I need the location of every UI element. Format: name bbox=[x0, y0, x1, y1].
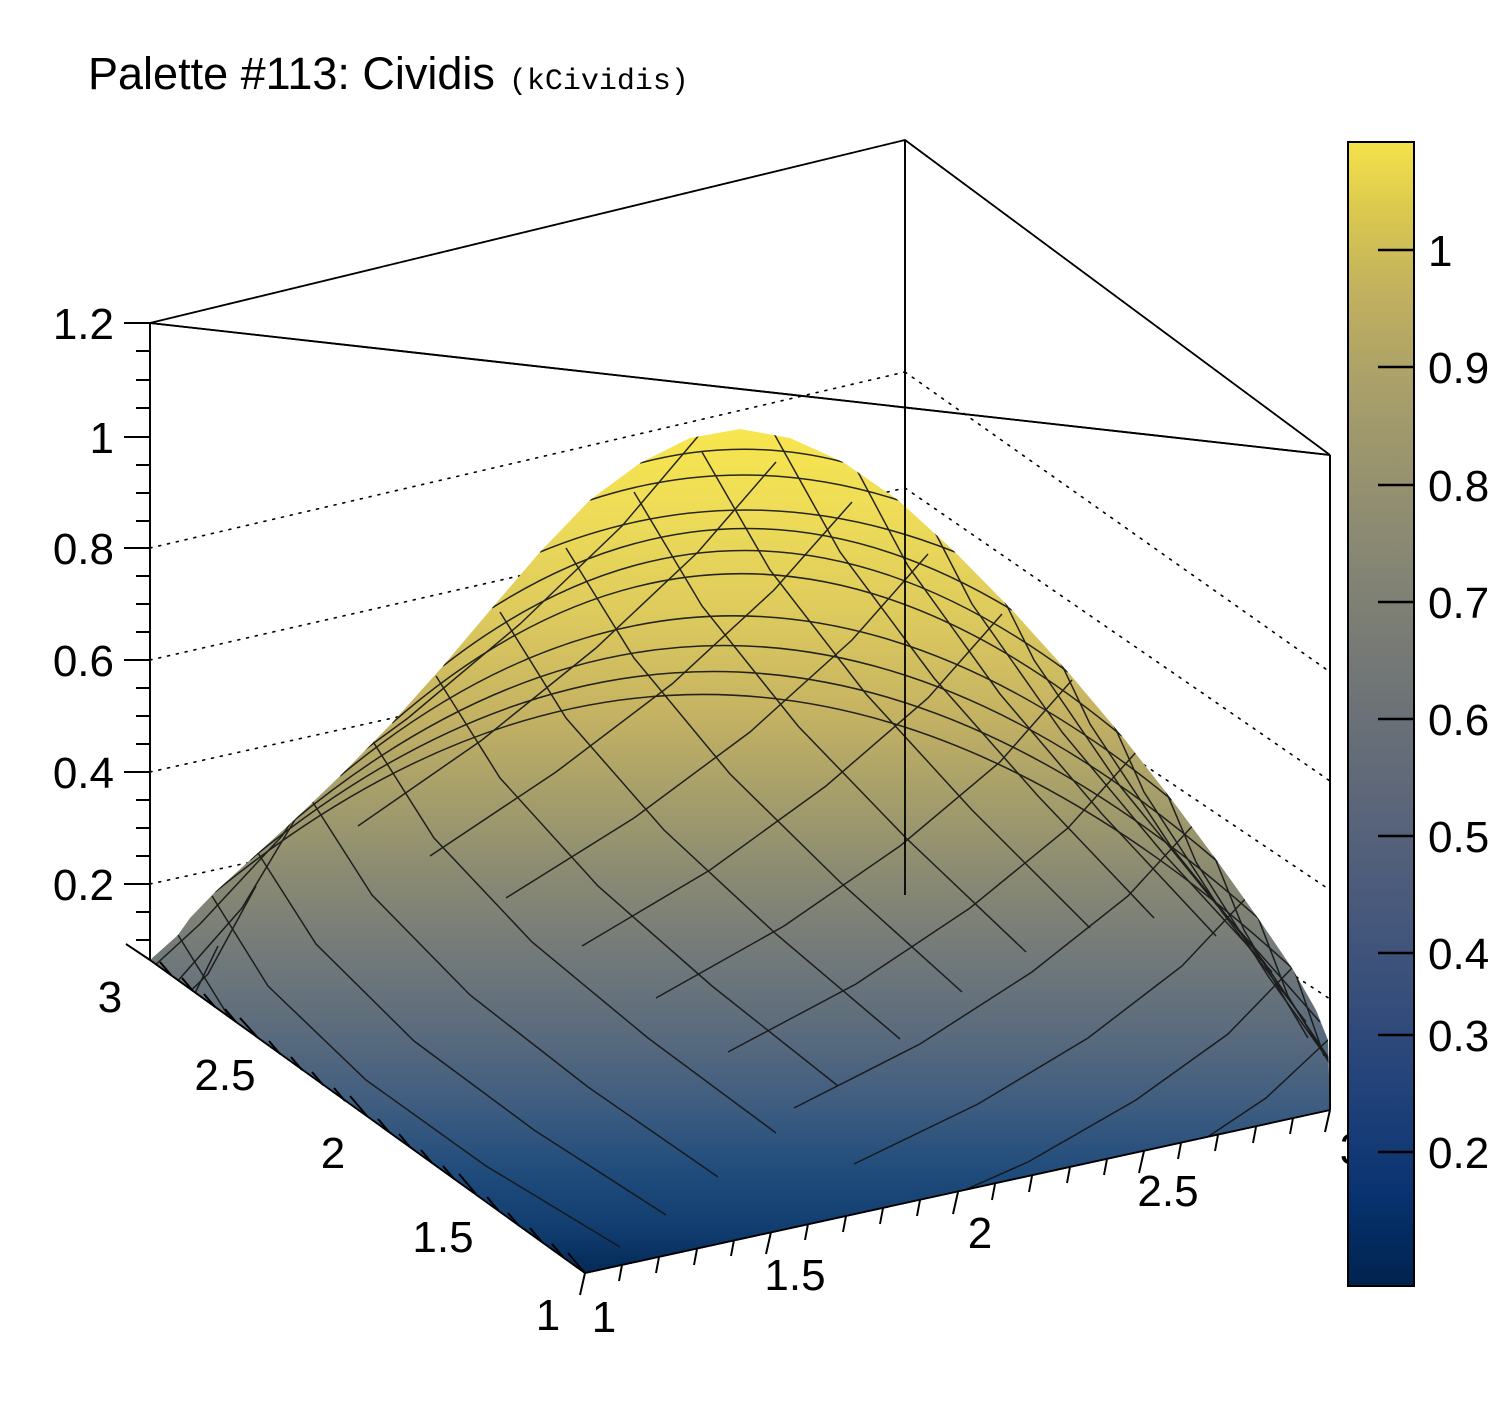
y-tick-label: 3 bbox=[98, 973, 122, 1022]
color-bar-tick-label: 0.6 bbox=[1428, 696, 1488, 745]
surface-plot-svg: 1.2 1 0.8 0.6 0.4 0.2 3 2.5 2 1.5 1 1 1.… bbox=[0, 0, 1488, 1416]
x-tick-label: 1.5 bbox=[764, 1251, 825, 1300]
y-tick-label: 2 bbox=[321, 1129, 345, 1178]
color-bar[interactable]: 1 0.9 0.8 0.7 0.6 0.5 0.4 0.3 0.2 bbox=[1348, 142, 1488, 1286]
color-bar-labels: 1 0.9 0.8 0.7 0.6 0.5 0.4 0.3 0.2 bbox=[1428, 227, 1488, 1178]
y-tick-label: 1.5 bbox=[412, 1213, 473, 1262]
y-tick-label: 1 bbox=[536, 1291, 560, 1340]
plot-canvas: Palette #113: Cividis(kCividis) bbox=[0, 0, 1488, 1416]
color-bar-tick-label: 0.5 bbox=[1428, 813, 1488, 862]
color-bar-tick-label: 0.8 bbox=[1428, 462, 1488, 511]
z-axis-labels: 1.2 1 0.8 0.6 0.4 0.2 bbox=[53, 300, 114, 910]
z-tick-label: 0.6 bbox=[53, 637, 114, 686]
z-axis-ticks bbox=[124, 323, 150, 940]
z-tick-label: 0.4 bbox=[53, 749, 114, 798]
z-tick-label: 0.2 bbox=[53, 861, 114, 910]
z-tick-label: 1.2 bbox=[53, 300, 114, 349]
color-bar-tick-label: 1 bbox=[1428, 227, 1452, 276]
z-tick-label: 1 bbox=[90, 414, 114, 463]
color-bar-gradient[interactable] bbox=[1348, 142, 1414, 1286]
y-tick-label: 2.5 bbox=[194, 1051, 255, 1100]
color-bar-tick-label: 0.3 bbox=[1428, 1012, 1488, 1061]
color-bar-tick-label: 0.4 bbox=[1428, 930, 1488, 979]
x-tick-label: 1 bbox=[592, 1293, 616, 1342]
color-bar-tick-label: 0.7 bbox=[1428, 579, 1488, 628]
x-tick-label: 2 bbox=[968, 1209, 992, 1258]
color-bar-tick-label: 0.9 bbox=[1428, 344, 1488, 393]
color-bar-tick-label: 0.2 bbox=[1428, 1129, 1488, 1178]
x-tick-label: 2.5 bbox=[1137, 1167, 1198, 1216]
z-tick-label: 0.8 bbox=[53, 525, 114, 574]
